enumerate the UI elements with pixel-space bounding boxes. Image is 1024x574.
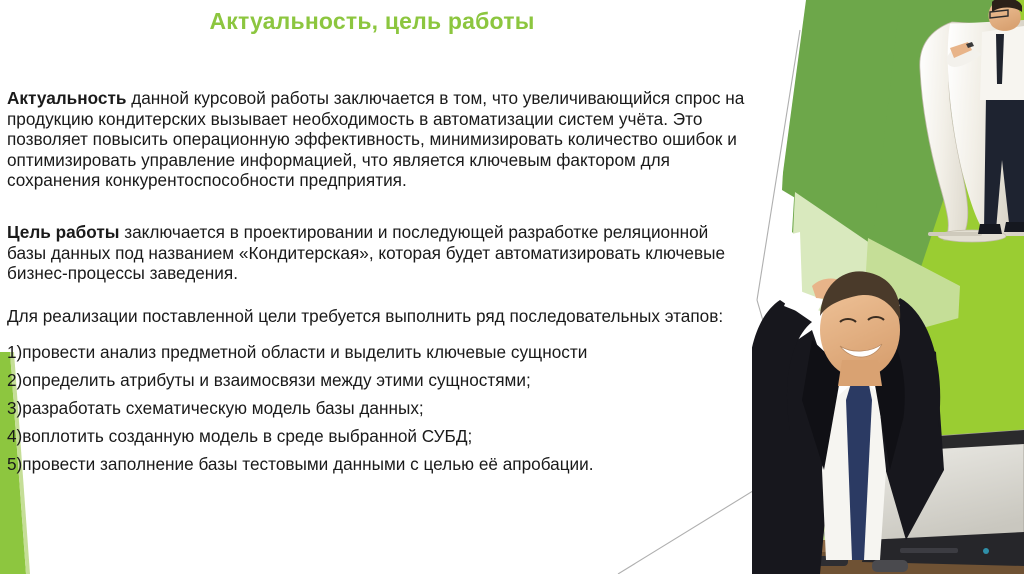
architect-tie [996, 34, 1004, 84]
hairline-upper-right-2 [757, 300, 836, 574]
paragraph-goal: Цель работы заключается в проектировании… [7, 222, 749, 284]
laptop-lid-top [884, 430, 1024, 452]
paragraph-relevance-lead: Актуальность [7, 88, 126, 108]
architect-hair [992, 0, 1022, 12]
list-item: 4)воплотить созданную модель в среде выб… [7, 422, 749, 450]
desk-glasses [796, 556, 848, 566]
green-wedge-mid [792, 0, 1010, 330]
relaxed-lapel-left [802, 340, 842, 470]
presentation-slide: Актуальность, цель работы Актуальность д… [0, 0, 1024, 574]
relaxed-neck [838, 360, 882, 386]
green-wedge-lower-mid [830, 440, 940, 574]
photo-architect-group [920, 0, 1024, 242]
relaxed-head [820, 282, 900, 378]
list-item: 3)разработать схематическую модель базы … [7, 394, 749, 422]
desk-front [752, 552, 1024, 574]
hairline-upper-right [757, 30, 800, 300]
architect-shoe-left [978, 224, 1002, 234]
relaxed-hand-right [842, 279, 874, 301]
laptop-ports [900, 548, 958, 553]
architect-shoe-right [1004, 222, 1024, 232]
laptop-mouse [872, 560, 908, 572]
laptop-lid [876, 430, 1024, 546]
relaxed-hand-left [812, 279, 848, 301]
list-item: 2)определить атрибуты и взаимосвязи межд… [7, 366, 749, 394]
scroll-rod [928, 232, 982, 236]
relaxed-cuff-left [784, 288, 824, 318]
blueprint-scroll-main [948, 20, 1024, 236]
desk-surface [752, 540, 1024, 574]
architect-arm [947, 44, 982, 67]
relaxed-collar-right [862, 366, 882, 396]
relaxed-eye-right [868, 317, 884, 320]
white-cutout-mid [744, 232, 812, 574]
lime-field-main [886, 0, 1024, 430]
steps-list: 1)провести анализ предметной области и в… [7, 338, 749, 478]
relaxed-arm-right [880, 298, 940, 428]
relaxed-arm-left [748, 300, 812, 430]
relaxed-suit-right [874, 330, 944, 540]
architect-hand [950, 42, 972, 58]
architect-head [989, 0, 1021, 31]
green-wedge-lower-pale [772, 398, 900, 574]
list-item: 1)провести анализ предметной области и в… [7, 338, 749, 366]
spacer [7, 191, 749, 222]
scroll-roll [938, 230, 1006, 242]
green-sliver-pale-2 [862, 238, 960, 380]
architect-legs [984, 96, 1024, 232]
hairline-lower-diagonal-2 [800, 424, 862, 462]
paragraph-goal-lead: Цель работы [7, 222, 119, 242]
relaxed-shirt [822, 372, 886, 560]
relaxed-tie [846, 380, 872, 560]
lime-field-right [900, 0, 1024, 574]
lime-wedge-lower [820, 300, 1024, 574]
relaxed-smile [840, 344, 882, 357]
list-item: 5)провести заполнение базы тестовыми дан… [7, 450, 749, 478]
laptop-indicator [983, 548, 989, 554]
white-cutout-upper [744, 0, 806, 300]
hairline-lower-diagonal [618, 462, 800, 574]
relaxed-suit-left [744, 330, 836, 574]
photo-relaxed-group [744, 271, 1024, 574]
laptop-base [862, 532, 1024, 566]
spacer [7, 284, 749, 306]
architect-watch [966, 42, 974, 48]
slide-title: Актуальность, цель работы [0, 8, 744, 35]
relaxed-eye-left [840, 319, 856, 322]
relaxed-cuff-right [862, 288, 900, 318]
relaxed-hair [820, 271, 900, 320]
architect-glasses [990, 10, 1008, 18]
green-wedge-mid-2 [782, 0, 900, 244]
slide-body: Актуальность данной курсовой работы закл… [7, 88, 749, 478]
spacer [7, 326, 749, 338]
relaxed-lapel-right [872, 340, 908, 470]
architect-shirt [980, 26, 1024, 100]
green-sliver-pale [790, 192, 880, 330]
blueprint-scroll [920, 22, 986, 240]
relaxed-collar-left [834, 366, 856, 396]
steps-intro: Для реализации поставленной цели требует… [7, 306, 749, 327]
paragraph-relevance: Актуальность данной курсовой работы закл… [7, 88, 749, 191]
